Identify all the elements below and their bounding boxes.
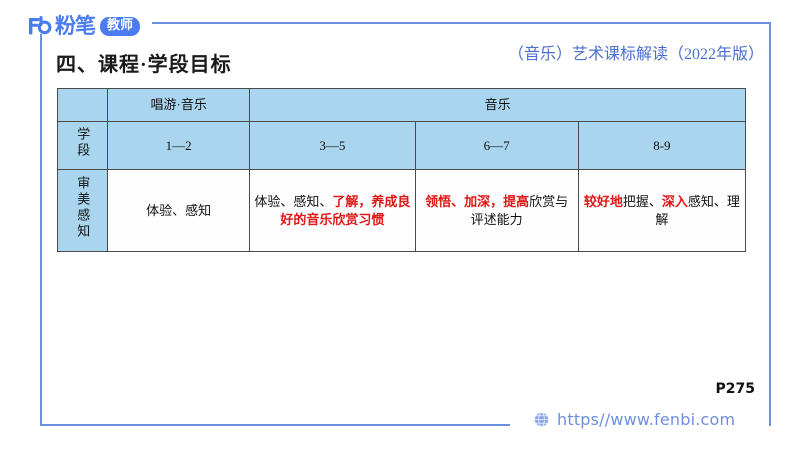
table-row: 审美感知 体验、感知 体验、感知、了解，养成良好的音乐欣赏习惯 领悟、加深，提高… [58, 170, 746, 252]
row-label-shenmeiganzhi-text: 审美感知 [74, 176, 92, 240]
frame-right-line [769, 22, 771, 426]
frame-left-line [40, 34, 42, 426]
row-label-xueduan: 学段 [58, 122, 108, 170]
goal-cell-4-text: 较好地把握、深入感知、理解 [583, 193, 741, 228]
goal-cell-2: 体验、感知、了解，养成良好的音乐欣赏习惯 [250, 170, 415, 252]
table-header-row: 唱游·音乐 音乐 [58, 89, 746, 122]
frame-top-line [152, 22, 770, 24]
table-stage-row: 学段 1—2 3—5 6—7 8-9 [58, 122, 746, 170]
goal-cell-1: 体验、感知 [108, 170, 250, 252]
header-title: （音乐）艺术课标解读（2022年版） [508, 40, 764, 64]
brand-logo: 粉笔 教师 [26, 12, 140, 40]
goals-table-wrapper: 唱游·音乐 音乐 学段 1—2 3—5 6—7 8-9 审美感知 [57, 88, 746, 252]
row-label-shenmeiganzhi: 审美感知 [58, 170, 108, 252]
stage-goals-table: 唱游·音乐 音乐 学段 1—2 3—5 6—7 8-9 审美感知 [57, 88, 746, 252]
text-run-black: 体验、感知、 [254, 194, 332, 209]
text-run-black: 体验、感知 [146, 203, 211, 218]
page-number: P275 [716, 381, 755, 397]
row-label-xueduan-text: 学段 [74, 127, 92, 159]
goal-cell-3-text: 领悟、加深，提高欣赏与评述能力 [420, 193, 574, 228]
stage-cell-1: 1—2 [108, 122, 250, 170]
text-run-red: 较好地 [584, 194, 623, 209]
stage-cell-2: 3—5 [250, 122, 415, 170]
logo-wordmark: 粉笔 [55, 15, 95, 37]
text-run-red: 领悟、加深，提高 [425, 194, 529, 209]
goal-cell-1-text: 体验、感知 [112, 202, 245, 220]
stage-cell-3: 6—7 [415, 122, 578, 170]
slide-canvas: 粉笔 教师 （音乐）艺术课标解读（2022年版） 四、课程·学段目标 唱游·音乐… [0, 0, 800, 450]
frame-bottom-line [40, 424, 510, 426]
goal-cell-4: 较好地把握、深入感知、理解 [578, 170, 745, 252]
stage-cell-4: 8-9 [578, 122, 745, 170]
footer-url-block: https//www.fenbi.com [533, 410, 735, 429]
header-group-yinyue: 音乐 [250, 89, 746, 122]
goal-cell-3: 领悟、加深，提高欣赏与评述能力 [415, 170, 578, 252]
text-run-black: 把握、 [623, 194, 662, 209]
globe-icon [533, 411, 550, 428]
page-title: 四、课程·学段目标 [56, 48, 232, 77]
footer-url-text[interactable]: https//www.fenbi.com [557, 410, 735, 429]
header-group-changyou: 唱游·音乐 [108, 89, 250, 122]
logo-badge-teacher: 教师 [100, 17, 140, 36]
header-corner-cell [58, 89, 108, 122]
text-run-red: 深入 [662, 194, 688, 209]
fb-monogram-icon [26, 15, 52, 37]
goal-cell-2-text: 体验、感知、了解，养成良好的音乐欣赏习惯 [254, 193, 410, 228]
